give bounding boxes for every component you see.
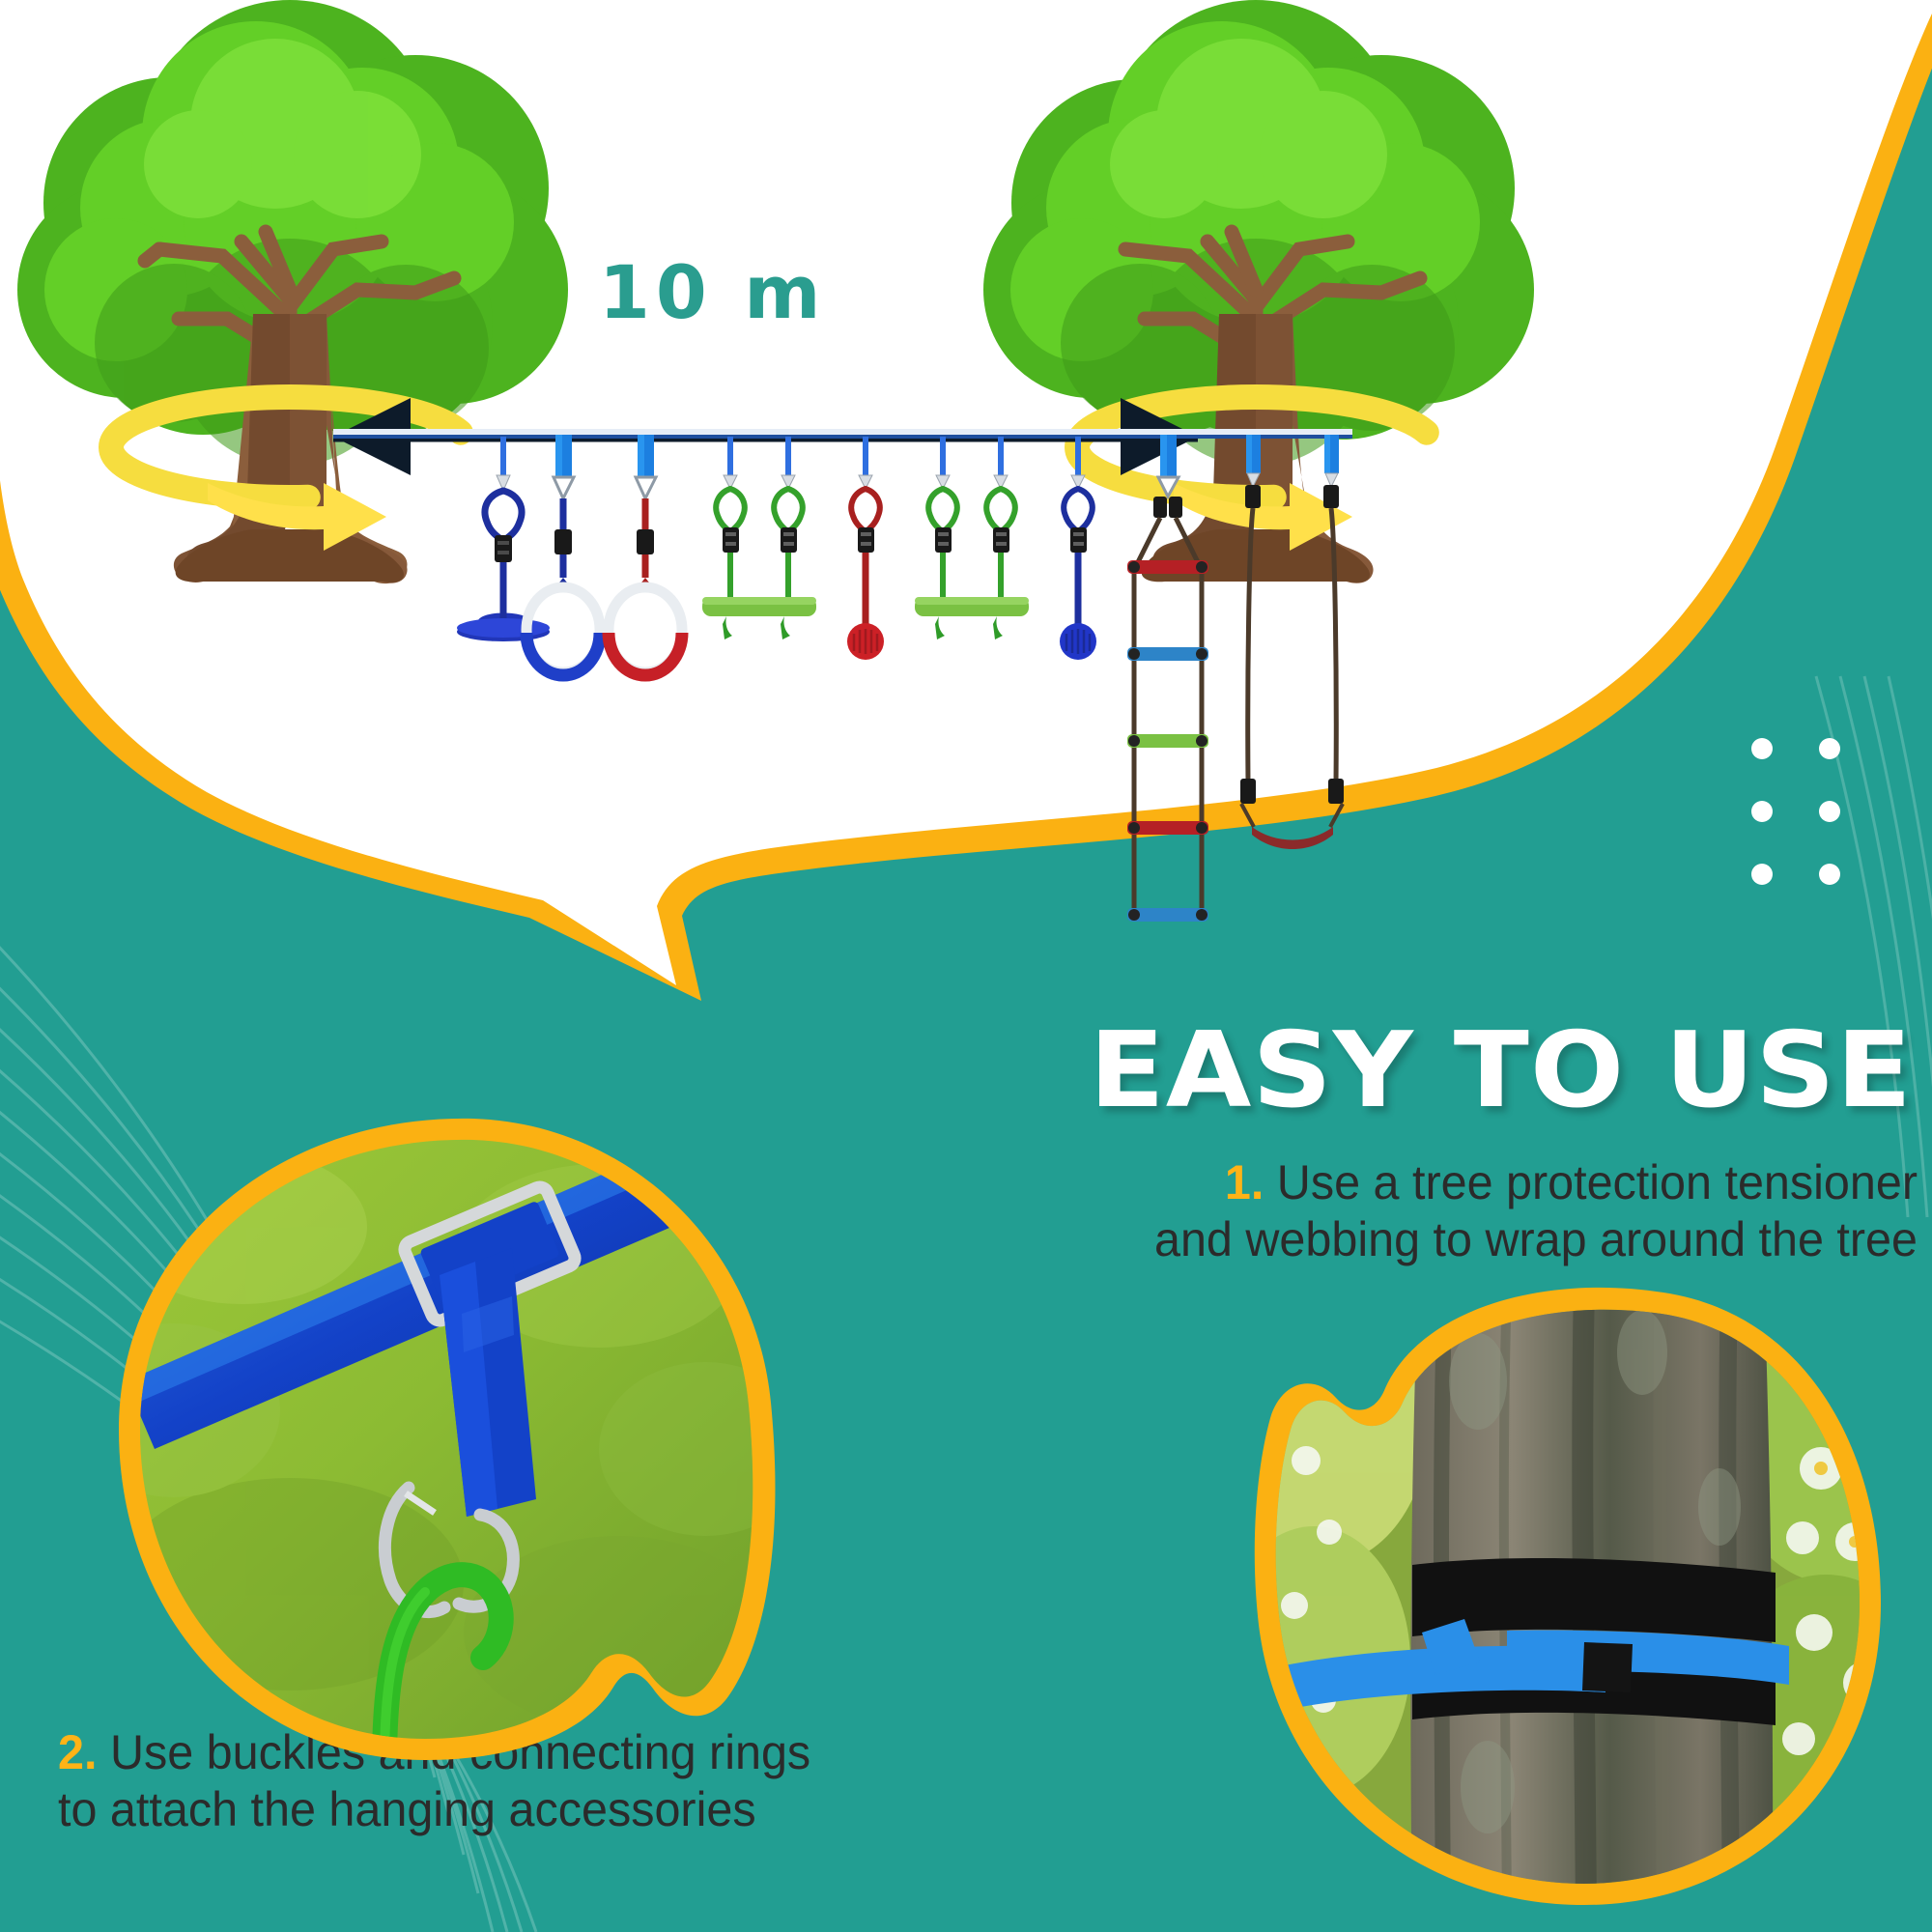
infographic-root: 10 m EASY TO USE 1. Use a tree protectio… <box>0 0 1932 1932</box>
buckle-carabiner-photo <box>68 1111 811 1768</box>
tree-trunk-webbing-photo <box>1217 1275 1932 1922</box>
photo-blobs-layer <box>0 0 1932 1932</box>
